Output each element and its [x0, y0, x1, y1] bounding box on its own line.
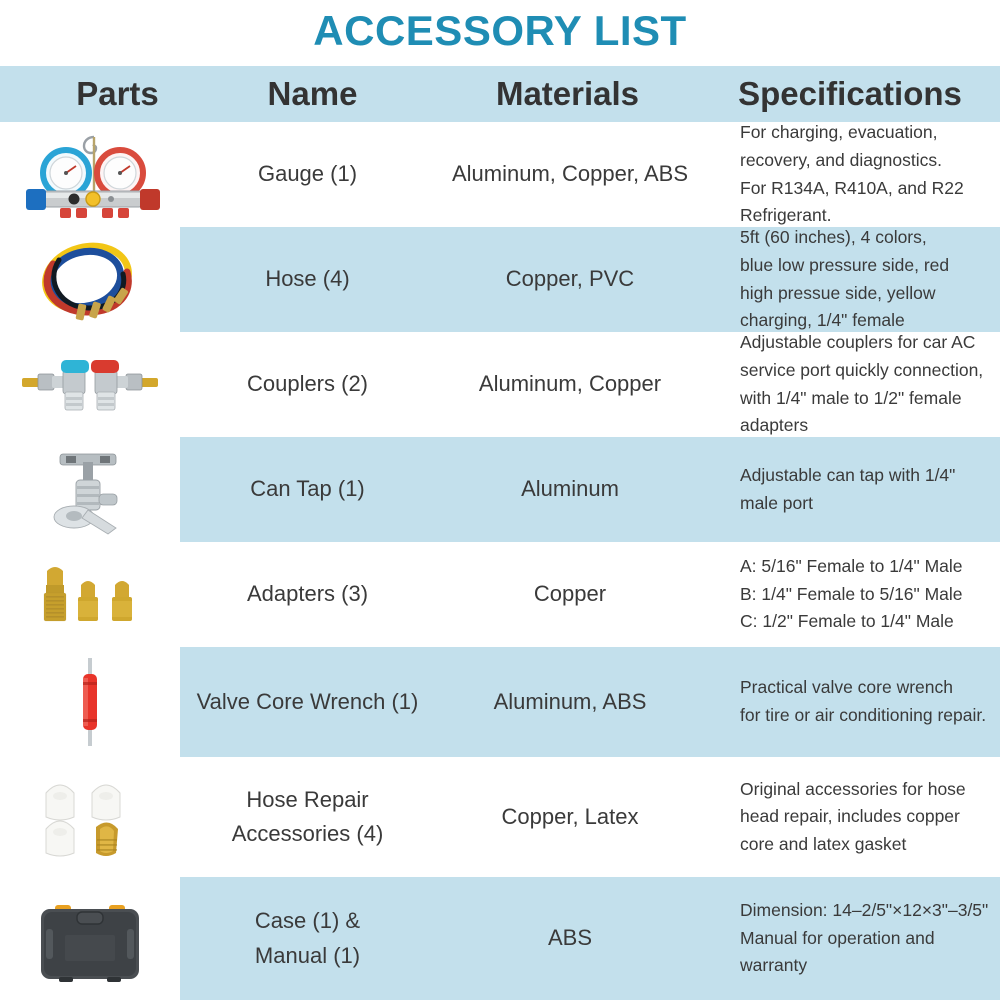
- part-image-cell: [0, 877, 180, 1000]
- part-specifications: Practical valve core wrench for tire or …: [705, 647, 1000, 757]
- part-materials: Copper, PVC: [435, 227, 705, 332]
- part-image-cell: [0, 122, 180, 227]
- table-row: Gauge (1) Aluminum, Copper, ABS For char…: [0, 122, 1000, 227]
- part-materials: Aluminum, Copper: [435, 332, 705, 437]
- table-row: Case (1) & Manual (1) ABS Dimension: 14–…: [0, 877, 1000, 1000]
- part-specifications: Original accessories for hose head repai…: [705, 757, 1000, 877]
- table-row: Hose Repair Accessories (4) Copper, Late…: [0, 757, 1000, 877]
- column-header-name: Name: [195, 66, 430, 122]
- part-image-cell: [0, 757, 180, 877]
- part-image-cell: [0, 542, 180, 647]
- part-materials: Aluminum, Copper, ABS: [435, 122, 705, 227]
- part-name: Gauge (1): [180, 122, 435, 227]
- table-row: Adapters (3) Copper A: 5/16" Female to 1…: [0, 542, 1000, 647]
- carrying-case-icon: [25, 893, 155, 985]
- column-header-materials: Materials: [430, 66, 705, 122]
- part-materials: Aluminum, ABS: [435, 647, 705, 757]
- part-image-cell: [0, 437, 180, 542]
- can-tap-icon: [30, 442, 150, 537]
- part-specifications: For charging, evacuation, recovery, and …: [705, 122, 1000, 227]
- accessory-list-sheet: ACCESSORY LIST Parts Name Materials Spec…: [0, 0, 1000, 1000]
- brass-adapters-icon: [25, 555, 155, 635]
- part-specifications: Adjustable can tap with 1/4" male port: [705, 437, 1000, 542]
- part-name: Can Tap (1): [180, 437, 435, 542]
- hose-repair-accessories-icon: [30, 767, 150, 867]
- part-materials: ABS: [435, 877, 705, 1000]
- part-specifications: Adjustable couplers for car AC service p…: [705, 332, 1000, 437]
- column-header-specifications: Specifications: [700, 66, 1000, 122]
- part-specifications: 5ft (60 inches), 4 colors, blue low pres…: [705, 227, 1000, 332]
- table-row: Hose (4) Copper, PVC 5ft (60 inches), 4 …: [0, 227, 1000, 332]
- part-image-cell: [0, 332, 180, 437]
- table-row: Can Tap (1) Aluminum Adjustable can tap …: [0, 437, 1000, 542]
- table-header-row: Parts Name Materials Specifications: [0, 66, 1000, 122]
- valve-core-wrench-icon: [60, 652, 120, 752]
- quick-couplers-icon: [10, 350, 170, 420]
- part-image-cell: [0, 227, 180, 332]
- part-materials: Copper, Latex: [435, 757, 705, 877]
- table-row: Valve Core Wrench (1) Aluminum, ABS Prac…: [0, 647, 1000, 757]
- part-name: Hose (4): [180, 227, 435, 332]
- manifold-gauge-set-icon: [10, 129, 170, 221]
- charging-hoses-icon: [15, 234, 165, 326]
- part-name: Hose Repair Accessories (4): [180, 757, 435, 877]
- part-specifications: A: 5/16" Female to 1/4" Male B: 1/4" Fem…: [705, 542, 1000, 647]
- part-name: Case (1) & Manual (1): [180, 877, 435, 1000]
- part-specifications: Dimension: 14–2/5"×12×3"–3/5" Manual for…: [705, 877, 1000, 1000]
- part-name: Couplers (2): [180, 332, 435, 437]
- part-materials: Copper: [435, 542, 705, 647]
- part-materials: Aluminum: [435, 437, 705, 542]
- part-name: Valve Core Wrench (1): [180, 647, 435, 757]
- part-name: Adapters (3): [180, 542, 435, 647]
- part-image-cell: [0, 647, 180, 757]
- table-row: Couplers (2) Aluminum, Copper Adjustable…: [0, 332, 1000, 437]
- page-title: ACCESSORY LIST: [0, 0, 1000, 66]
